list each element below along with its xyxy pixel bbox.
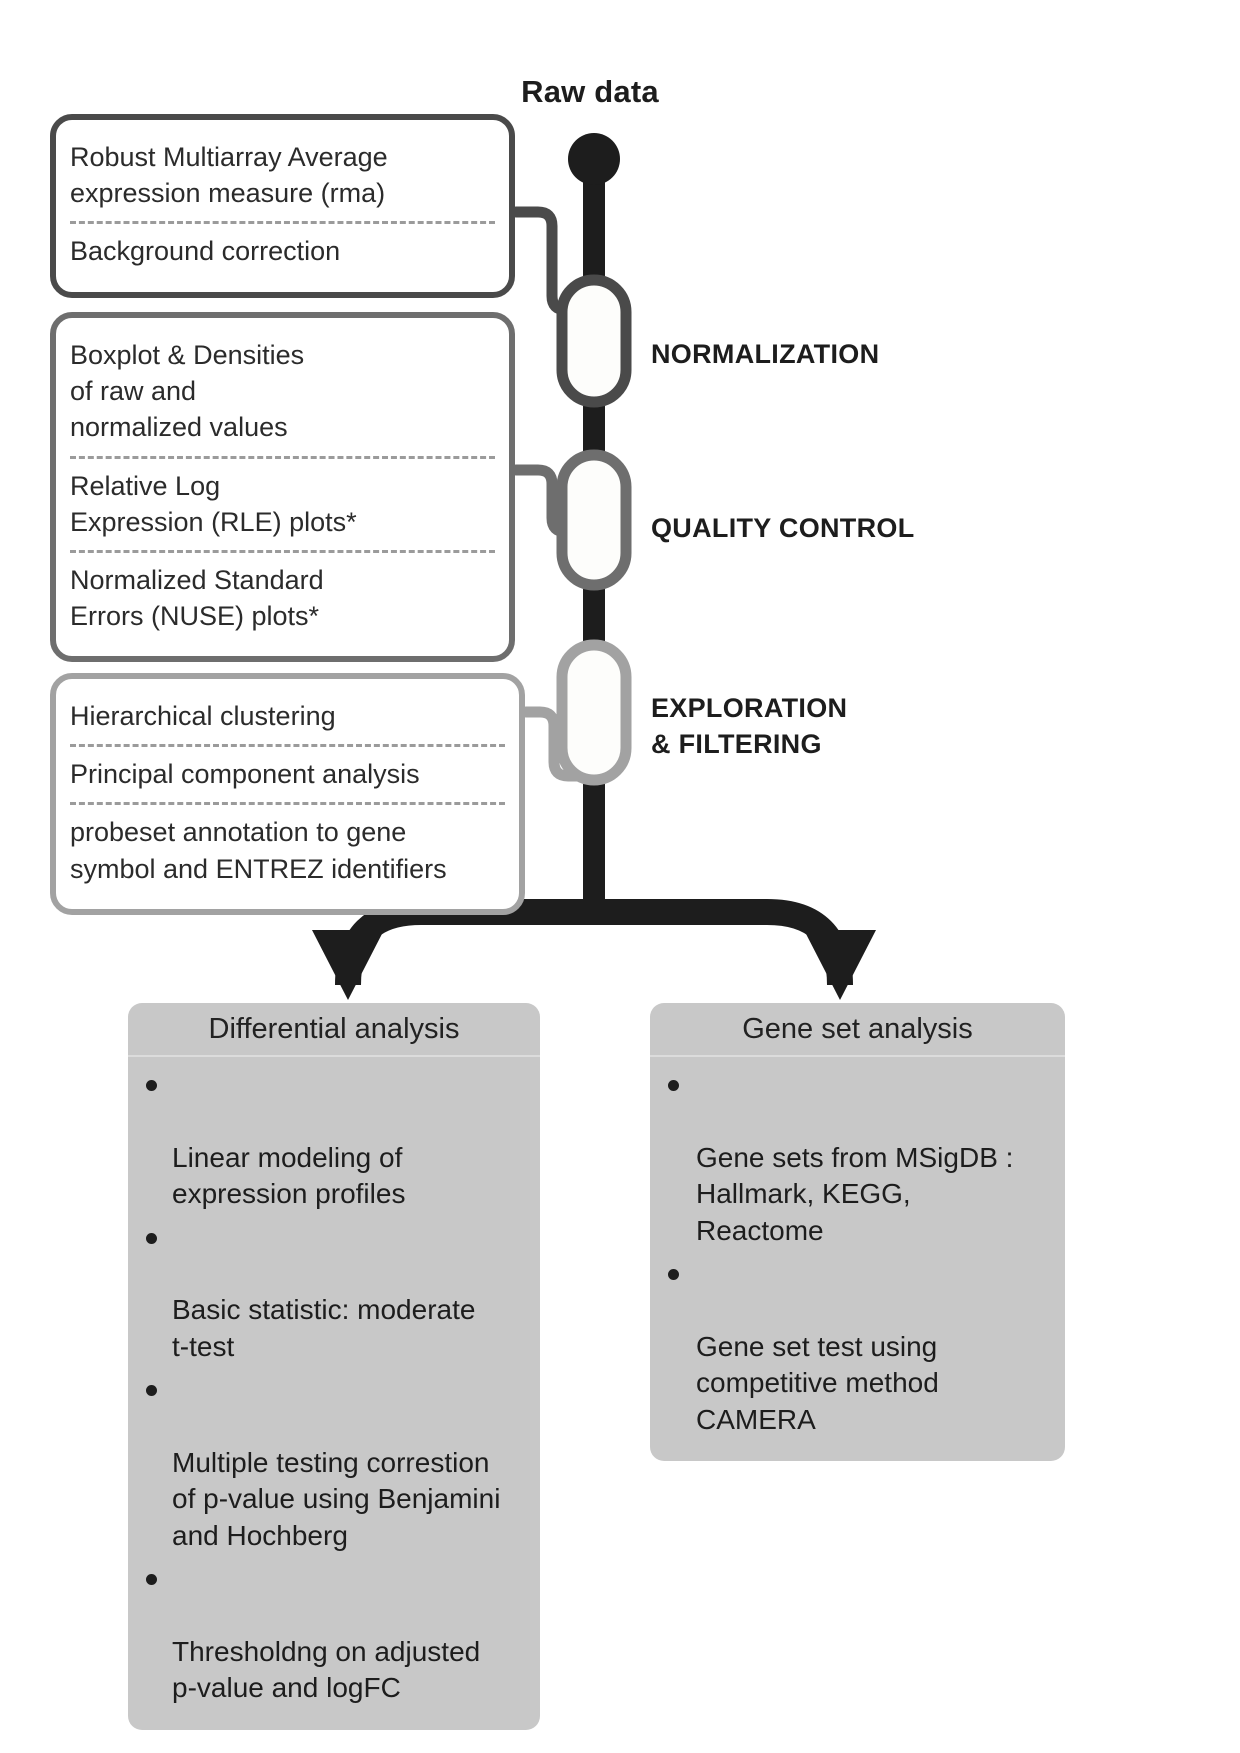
- list-item: Multiple testing correstion of p-value u…: [142, 1372, 528, 1554]
- card-row: Relative Log Expression (RLE) plots*: [70, 456, 495, 550]
- panel-list: Gene sets from MSigDB : Hallmark, KEGG, …: [650, 1057, 1065, 1461]
- bullet-icon: [146, 1574, 157, 1585]
- list-item-label: Thresholdng on adjusted p-value and logF…: [172, 1636, 480, 1703]
- panel-title: Gene set analysis: [650, 1003, 1065, 1057]
- diagram-canvas: Raw data Robust Multiarray Average expre…: [0, 0, 1240, 1753]
- bullet-icon: [146, 1233, 157, 1244]
- card-row: Background correction: [70, 221, 495, 279]
- list-item-label: Basic statistic: moderate t-test: [172, 1294, 475, 1361]
- stage-label-normalization: NORMALIZATION: [651, 336, 879, 372]
- card-row: Hierarchical clustering: [70, 689, 505, 744]
- list-item-label: Multiple testing correstion of p-value u…: [172, 1447, 500, 1551]
- card-row: probeset annotation to gene symbol and E…: [70, 802, 505, 896]
- list-item: Basic statistic: moderate t-test: [142, 1220, 528, 1366]
- quality-control-card: Boxplot & Densities of raw and normalize…: [50, 312, 515, 662]
- card-row: Robust Multiarray Average expression mea…: [70, 130, 495, 221]
- panel-list: Linear modeling of expression profiles B…: [128, 1057, 540, 1730]
- panel-title: Differential analysis: [128, 1003, 540, 1057]
- stage-label-exploration-filtering: EXPLORATION & FILTERING: [651, 690, 847, 763]
- bullet-icon: [146, 1385, 157, 1396]
- list-item-label: Linear modeling of expression profiles: [172, 1142, 405, 1209]
- bullet-icon: [668, 1269, 679, 1280]
- list-item: Gene sets from MSigDB : Hallmark, KEGG, …: [664, 1067, 1053, 1249]
- stage-label-quality-control: QUALITY CONTROL: [651, 510, 915, 546]
- bullet-icon: [146, 1080, 157, 1091]
- page-title: Raw data: [430, 74, 750, 110]
- gene-set-analysis-panel: Gene set analysis Gene sets from MSigDB …: [650, 1003, 1065, 1461]
- list-item: Thresholdng on adjusted p-value and logF…: [142, 1561, 528, 1707]
- card-row: Principal component analysis: [70, 744, 505, 802]
- list-item: Linear modeling of expression profiles: [142, 1067, 528, 1213]
- card-row: Normalized Standard Errors (NUSE) plots*: [70, 550, 495, 644]
- exploration-filtering-card: Hierarchical clustering Principal compon…: [50, 673, 525, 915]
- list-item: Gene set test using competitive method C…: [664, 1256, 1053, 1438]
- differential-analysis-panel: Differential analysis Linear modeling of…: [128, 1003, 540, 1730]
- list-item-label: Gene set test using competitive method C…: [696, 1331, 939, 1435]
- card-row: Boxplot & Densities of raw and normalize…: [70, 328, 495, 456]
- normalization-card: Robust Multiarray Average expression mea…: [50, 114, 515, 298]
- bullet-icon: [668, 1080, 679, 1091]
- list-item-label: Gene sets from MSigDB : Hallmark, KEGG, …: [696, 1142, 1013, 1246]
